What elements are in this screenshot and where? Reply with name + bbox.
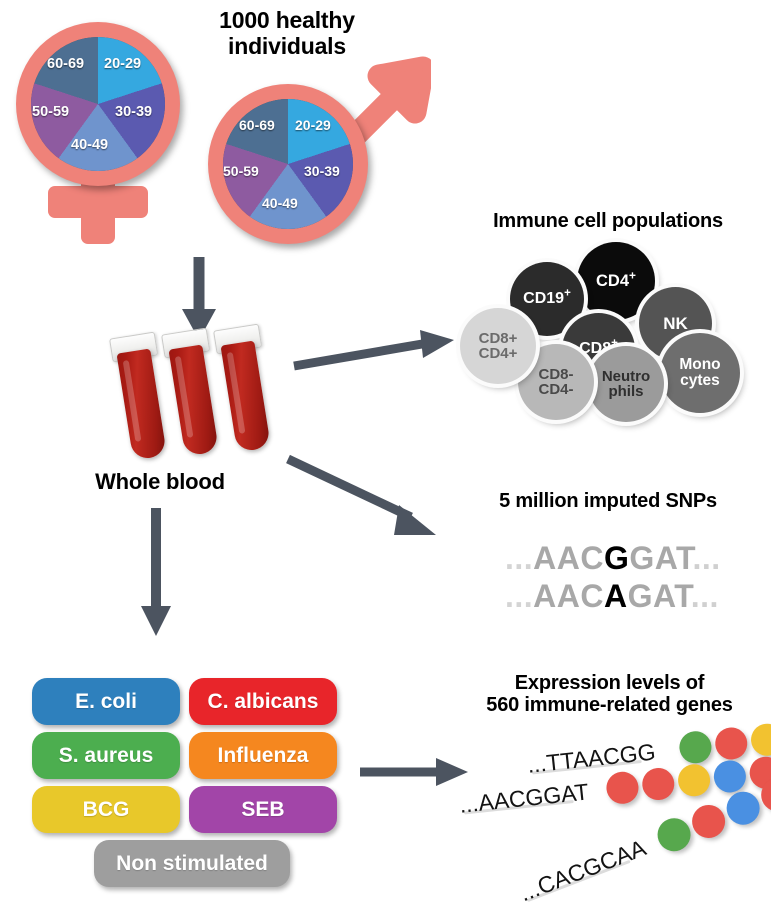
immune-cell-monocytes: Monocytes	[660, 333, 740, 413]
stimulus-non-stimulated[interactable]: Non stimulated	[94, 840, 290, 887]
strand-sequence: ...TTAACGG	[526, 739, 657, 779]
expression-title-line2: 560 immune-related genes	[452, 694, 767, 716]
stimulus-c-albicans[interactable]: C. albicans	[189, 678, 337, 725]
cell-label: NK	[663, 315, 688, 332]
male-gender-symbol: 20-29 30-39 40-49 50-59 60-69	[196, 36, 431, 251]
pie-label-male-60-69: 60-69	[239, 117, 275, 133]
cell-label: Monocytes	[679, 357, 720, 389]
snp-lead: ...	[505, 578, 533, 614]
snps-title: 5 million imputed SNPs	[452, 490, 764, 512]
pie-label-male-20-29: 20-29	[295, 117, 331, 133]
strand-sequence: ...CACGCAA	[516, 834, 650, 907]
female-symbol-crossbar	[48, 186, 148, 218]
expression-dot	[712, 759, 747, 794]
pie-label-male-50-59: 50-59	[223, 163, 259, 179]
snp-suffix: GAT	[628, 578, 691, 614]
snp-suffix: GAT	[629, 540, 692, 576]
stimulus-label: Influenza	[217, 744, 308, 768]
snp-variant-allele: A	[604, 578, 628, 614]
arrow-blood-to-immune-cells	[292, 330, 457, 375]
expression-dot	[676, 763, 711, 798]
expression-dot	[653, 813, 696, 856]
snp-sequence-row: ...AACGGAT...	[505, 540, 721, 577]
stimulus-label: Non stimulated	[116, 852, 268, 876]
pie-label-male-30-39: 30-39	[304, 163, 340, 179]
snp-trail: ...	[693, 540, 721, 576]
stimulus-label: C. albicans	[208, 690, 319, 714]
stimulus-seb[interactable]: SEB	[189, 786, 337, 833]
pie-label-20-29: 20-29	[104, 56, 141, 72]
cell-label: CD8+CD4+	[479, 331, 518, 362]
expression-title: Expression levels of 560 immune-related …	[452, 672, 767, 717]
pie-label-60-69: 60-69	[47, 56, 84, 72]
snp-variant-allele: G	[604, 540, 629, 576]
stimulus-label: S. aureus	[59, 744, 154, 768]
expression-dot	[678, 730, 713, 765]
stimulus-bcg[interactable]: BCG	[32, 786, 180, 833]
expression-dot	[749, 722, 771, 757]
arrow-down-blood-to-stimuli	[136, 508, 176, 638]
cell-label: CD19+	[523, 291, 571, 307]
stimulus-label: SEB	[241, 798, 284, 822]
whole-blood-tubes	[108, 332, 298, 472]
immune-cell-cd8-positive-cd4-positive: CD8+CD4+	[460, 308, 536, 384]
strand-sequence: ...AACGGAT	[458, 778, 590, 818]
stimulus-e-coli[interactable]: E. coli	[32, 678, 180, 725]
snp-lead: ...	[505, 540, 533, 576]
stimulus-label: E. coli	[75, 690, 137, 714]
gene-expression-strands: ...TTAACGG ...AACGGAT ...CACGCAA	[448, 730, 771, 920]
stimulus-s-aureus[interactable]: S. aureus	[32, 732, 180, 779]
cohort-title-line1: 1000 healthy	[182, 8, 392, 34]
pie-label-50-59: 50-59	[32, 104, 69, 120]
stimulus-label: BCG	[83, 798, 130, 822]
arrow-blood-to-snps	[286, 455, 446, 545]
female-gender-symbol: 20-29 30-39 40-49 50-59 60-69	[8, 14, 208, 244]
pie-label-male-40-49: 40-49	[262, 195, 298, 211]
cell-label: CD4+	[596, 273, 636, 290]
expression-dot	[641, 766, 676, 801]
whole-blood-label: Whole blood	[60, 470, 260, 495]
stimuli-panel: E. coli C. albicans S. aureus Influenza …	[32, 678, 342, 893]
immune-populations-title: Immune cell populations	[452, 210, 764, 232]
pie-label-30-39: 30-39	[115, 104, 152, 120]
pie-label-40-49: 40-49	[71, 137, 108, 153]
immune-cell-neutrophils: Neutrophils	[588, 346, 664, 422]
snp-prefix: AAC	[533, 540, 604, 576]
snp-sequence-row: ...AACAGAT...	[505, 578, 719, 615]
expression-dot	[605, 770, 640, 805]
stimulus-influenza[interactable]: Influenza	[189, 732, 337, 779]
snp-prefix: AAC	[533, 578, 604, 614]
immune-cell-cluster: CD4+ CD19+ CD8+ NK Monocytes Neutrophils…	[452, 240, 762, 420]
expression-title-line1: Expression levels of	[452, 672, 767, 694]
cell-label: CD8-CD4-	[538, 367, 573, 398]
snp-trail: ...	[691, 578, 719, 614]
expression-dot	[722, 787, 765, 830]
cell-label: Neutrophils	[602, 369, 650, 400]
expression-dot	[687, 800, 730, 843]
expression-dot	[714, 726, 749, 761]
